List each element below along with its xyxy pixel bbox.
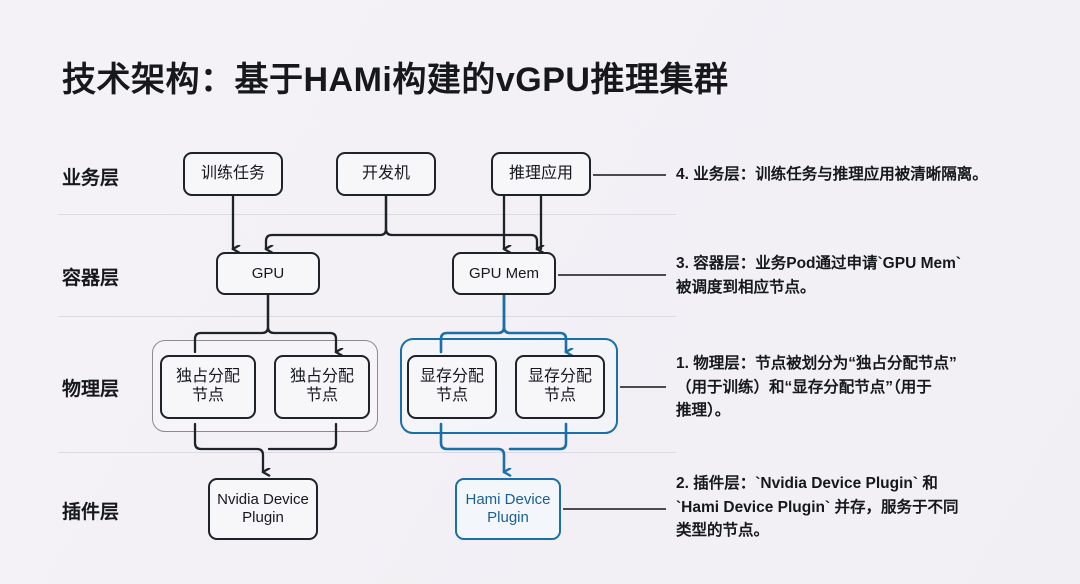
layer-label-physical: 物理层 bbox=[62, 374, 119, 401]
leader-line-plugin bbox=[563, 508, 666, 510]
band-divider-3 bbox=[58, 452, 676, 453]
annotation-physical: 1. 物理层：节点被划分为“独占分配节点” （用于训练）和“显存分配节点”（用于… bbox=[676, 352, 957, 423]
node-hami-device-plugin[interactable]: Hami Device Plugin bbox=[455, 478, 561, 540]
node-vmem-node-1[interactable]: 显存分配 节点 bbox=[407, 355, 497, 419]
layer-label-plugin: 插件层 bbox=[62, 497, 119, 524]
diagram-canvas: 技术架构：基于HAMi构建的vGPU推理集群 业务层 容器层 物理层 插件层 bbox=[0, 0, 1080, 584]
page-title: 技术架构：基于HAMi构建的vGPU推理集群 bbox=[62, 52, 728, 101]
annotation-business: 4. 业务层：训练任务与推理应用被清晰隔离。 bbox=[676, 163, 988, 187]
annotation-plugin: 2. 插件层：`Nvidia Device Plugin` 和 `Hami De… bbox=[676, 472, 958, 543]
node-exclusive-node-2[interactable]: 独占分配 节点 bbox=[274, 355, 370, 419]
node-exclusive-node-1[interactable]: 独占分配 节点 bbox=[160, 355, 256, 419]
node-gpu-mem[interactable]: GPU Mem bbox=[452, 252, 556, 295]
node-gpu[interactable]: GPU bbox=[216, 252, 320, 295]
annotation-container: 3. 容器层：业务Pod通过申请`GPU Mem` 被调度到相应节点。 bbox=[676, 252, 961, 299]
band-divider-2 bbox=[58, 316, 676, 317]
layer-label-business: 业务层 bbox=[62, 163, 119, 190]
layer-label-container: 容器层 bbox=[62, 263, 119, 290]
node-training-job[interactable]: 训练任务 bbox=[183, 152, 283, 196]
leader-line-physical bbox=[620, 386, 666, 388]
node-nvidia-device-plugin[interactable]: Nvidia Device Plugin bbox=[208, 478, 318, 540]
band-divider-1 bbox=[58, 214, 676, 215]
node-dev-machine[interactable]: 开发机 bbox=[336, 152, 436, 196]
leader-line-business bbox=[593, 174, 666, 176]
leader-line-container bbox=[558, 274, 666, 276]
node-inference-app[interactable]: 推理应用 bbox=[491, 152, 591, 196]
node-vmem-node-2[interactable]: 显存分配 节点 bbox=[515, 355, 605, 419]
